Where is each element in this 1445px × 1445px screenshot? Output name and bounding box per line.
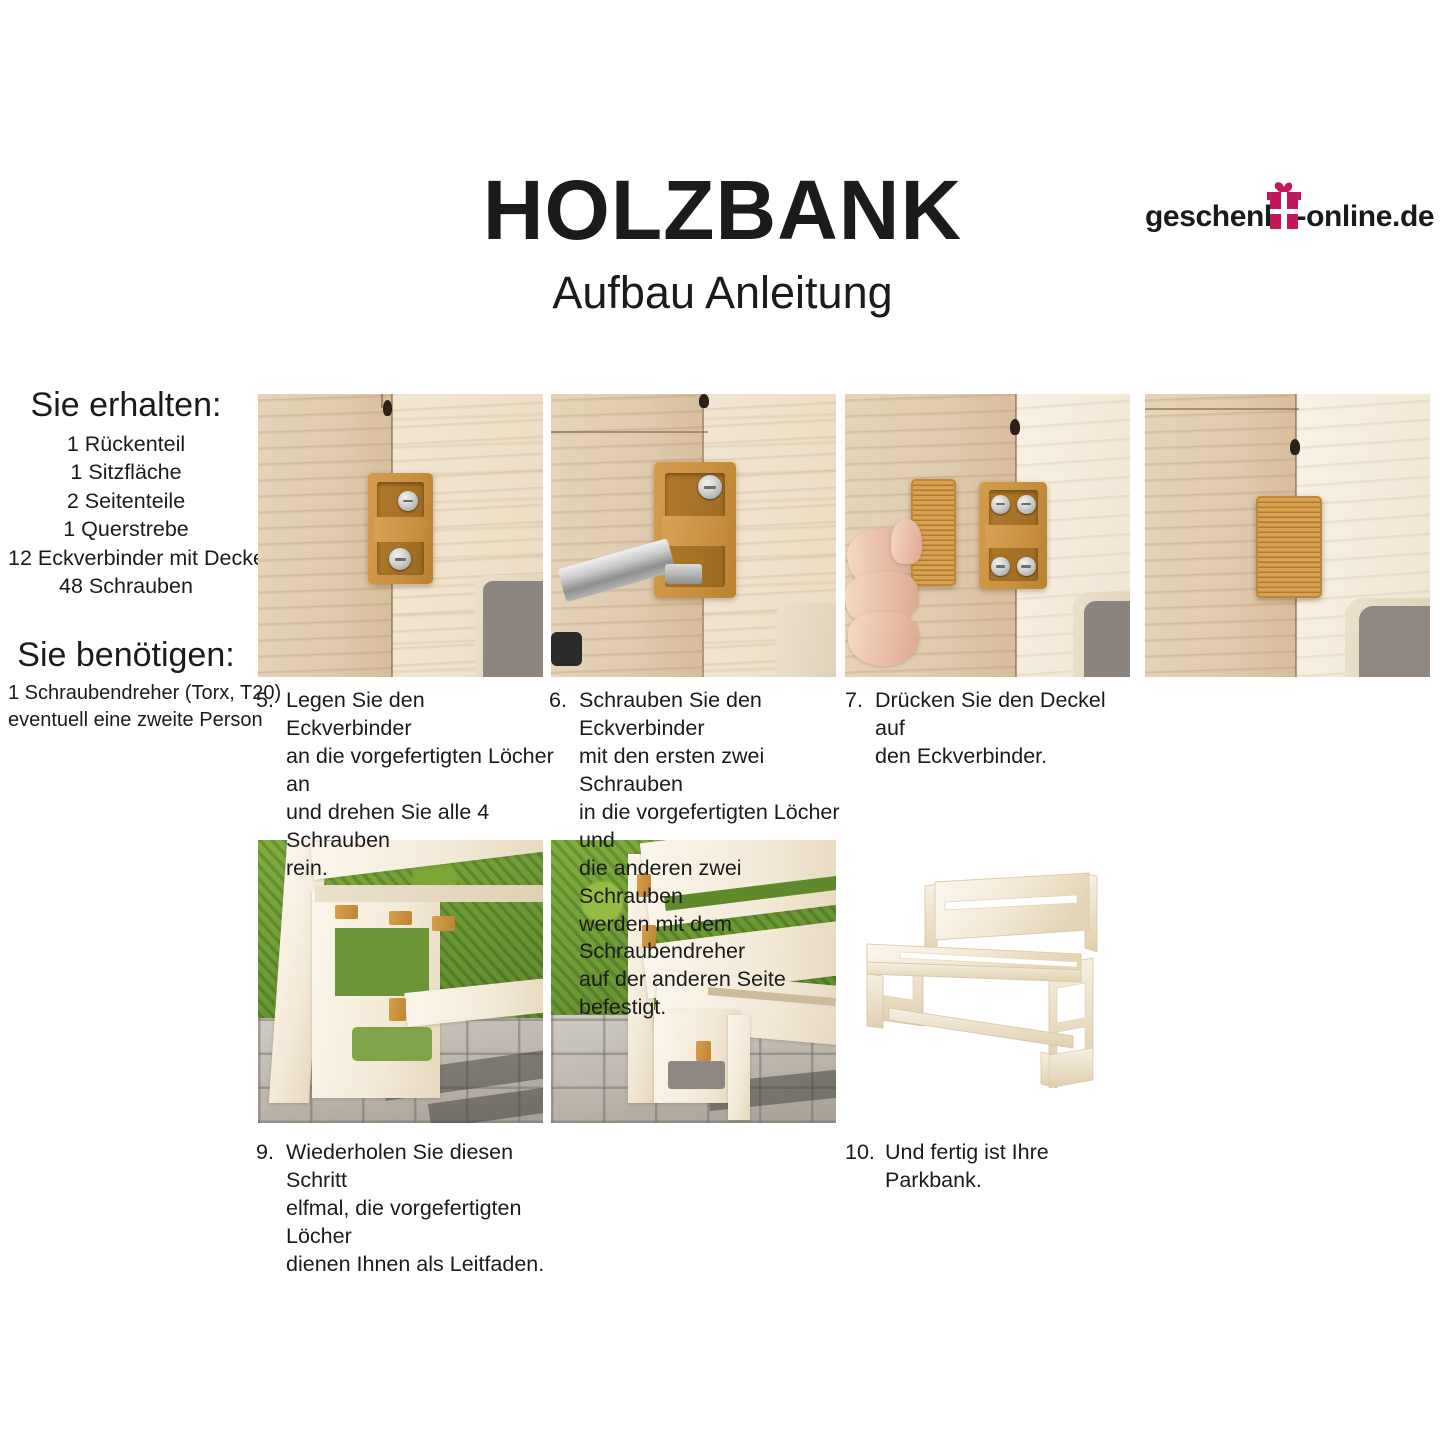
step-line: mit den ersten zwei Schrauben [579,743,849,799]
step-line: Drücken Sie den Deckel auf [875,687,1135,743]
step-line: an die vorgefertigten Löcher an [286,743,556,799]
cutout-shadow [483,581,543,677]
corner-connector-tab [432,916,455,930]
step-line: auf der anderen Seite befestigt. [579,966,849,1022]
tools-list-item: eventuell eine zweite Person [8,707,244,734]
parts-list: 1 Rückenteil 1 Sitzfläche 2 Seitenteile … [8,430,244,600]
photo-step-7 [845,394,1130,677]
parts-list-item: 12 Eckverbinder mit Deckel [8,544,244,572]
cutout-shadow [1084,601,1130,677]
corner-connector-tab [335,905,358,919]
finger [848,612,919,666]
step-line: Und fertig ist Ihre Parkbank. [885,1139,1145,1195]
panel-cutout [352,1027,432,1061]
photo-step-6 [551,394,836,677]
corner-connector [368,473,434,583]
bench-front-leg [728,1015,751,1120]
sidebar: Sie erhalten: 1 Rückenteil 1 Sitzfläche … [8,386,244,734]
screw [398,491,418,511]
screwdriver-bit [665,564,702,584]
page-subtitle: Aufbau Anleitung [0,270,1445,315]
step-line: dienen Ihnen als Leitfaden. [286,1251,566,1279]
finished-bench-illustration [845,840,1130,1123]
photo-step-7-result [1145,394,1430,677]
step-line: Schrauben Sie den Eckverbinder [579,687,849,743]
caption-step-5: 5. Legen Sie den Eckverbinder an die vor… [256,687,556,883]
step-number: 7. [845,687,875,715]
tools-list-section: Sie benötigen: 1 Schraubendreher (Torx, … [8,636,244,734]
parts-list-item: 1 Rückenteil [8,430,244,458]
step-line: die anderen zwei Schrauben [579,855,849,911]
corner-connector-tab [696,1041,710,1061]
parts-list-item: 48 Schrauben [8,572,244,600]
photo-step-10 [845,840,1130,1123]
corner-connector-tab [389,911,412,925]
leg-cutout [668,1061,725,1089]
connector-band [662,516,728,546]
step-line: rein. [286,855,556,883]
parts-list-item: 1 Sitzfläche [8,458,244,486]
parts-list-heading: Sie erhalten: [8,386,244,424]
predrilled-hole [1010,419,1020,435]
panel-edge [381,394,383,408]
step-number: 6. [549,687,579,715]
step-line: Wiederholen Sie diesen Schritt [286,1139,566,1195]
corner-connector [979,482,1047,590]
connector-band [986,525,1041,549]
caption-step-7: 7. Drücken Sie den Deckel auf den Eckver… [845,687,1135,771]
connector-band [374,517,426,541]
thumb [891,519,922,564]
screw [1017,557,1036,576]
step-line: Legen Sie den Eckverbinder [286,687,556,743]
parts-list-item: 2 Seitenteile [8,487,244,515]
parts-list-item: 1 Querstrebe [8,515,244,543]
predrilled-hole [383,400,392,416]
step-number: 5. [256,687,286,715]
installed-cover-plate [1256,496,1322,598]
document-header: HOLZBANK Aufbau Anleitung geschenke-onli… [0,0,1445,340]
tools-list-item: 1 Schraubendreher (Torx, T20) [8,680,244,707]
photo-step-5 [258,394,543,677]
parts-list-section: Sie erhalten: 1 Rückenteil 1 Sitzfläche … [8,386,244,600]
corner-connector-tab [389,998,406,1021]
predrilled-hole [1290,439,1300,455]
plywood-cutout [776,603,836,677]
step-line: elfmal, die vorgefertigten Löcher [286,1195,566,1251]
panel-cutout [335,928,429,996]
caption-step-9: 9. Wiederholen Sie diesen Schritt elfmal… [256,1139,566,1279]
step-number: 10. [845,1139,885,1167]
step-line: und drehen Sie alle 4 Schrauben [286,799,556,855]
caption-step-6: 6. Schrauben Sie den Eckverbinder mit de… [549,687,849,1022]
tools-list-heading: Sie benötigen: [8,636,244,674]
screw [991,495,1010,514]
screwdriver-handle [551,632,582,666]
caption-step-10: 10. Und fertig ist Ihre Parkbank. [845,1139,1145,1195]
screw [1017,495,1036,514]
panel-top-edge [551,431,708,433]
step-line: werden mit dem Schraubendreher [579,911,849,967]
step-line: in die vorgefertigten Löcher und [579,799,849,855]
brand-logo[interactable]: geschenke-online.de [1145,178,1415,248]
panel-top-edge [1145,408,1299,410]
tools-list: 1 Schraubendreher (Torx, T20) eventuell … [8,680,244,734]
step-line: den Eckverbinder. [875,743,1135,771]
bench-underside [315,885,543,902]
predrilled-hole [699,394,709,408]
step-number: 9. [256,1139,286,1167]
cutout-shadow [1359,606,1430,677]
gift-box-icon [1263,179,1305,231]
